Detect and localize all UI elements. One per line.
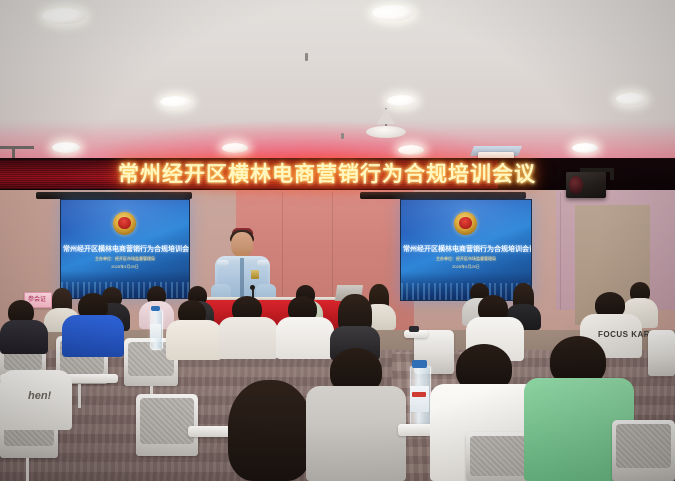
screen-case-left [36,192,192,199]
ceiling-downlight [572,143,598,153]
speaker-cone [569,176,583,194]
led-banner-text: 常州经开区横林电商营销行为合规培训会议 [118,161,498,188]
ceiling-downlight [616,93,646,105]
conference-room-photo: 常州经开区横林电商营销行为合规培训会议 常州经开区横林电商营销行为合规培训会议 … [0,0,675,481]
speaker-mount-post [610,168,614,180]
police-badge-emblem [113,212,136,235]
chair-leg [26,458,29,481]
police-badge-emblem [454,212,477,235]
ceiling-fitting [341,133,344,139]
ceiling-downlight [42,8,86,24]
attendee-hair [228,380,312,481]
projector-mount-bar-left [0,146,34,149]
screen-skyline-graphic [401,272,531,300]
screen-skyline-graphic [61,271,189,298]
projection-screen-left: 常州经开区横林电商营销行为合规培训会议 主办单位：经开区市场监督管理局 2025… [60,199,190,299]
attendee-torso [62,315,124,357]
bottle-label [410,386,429,412]
screen-date-left: 2025年9月25日 [63,264,187,270]
chair[interactable] [648,330,675,376]
seat-placard-text: 参会证 [26,294,48,303]
presenter-chest-badge [251,270,259,279]
screen-subtitle-left: 主办单位：经开区市场监督管理局 [63,256,187,262]
presenter-shoulder-board [257,260,269,266]
screen-title-left: 常州经开区横林电商营销行为合规培训会议 [63,244,187,254]
projection-screen-right: 常州经开区横林电商营销行为合规培训会议 主办单位：经开区市场监督管理局 2025… [400,199,532,301]
chair-backrest-mesh [470,436,532,476]
ceiling-fitting [305,53,308,61]
pendant-light-cone [377,108,395,124]
chair-leg [78,384,81,408]
mobile-phone [409,326,419,332]
ceiling-downlight [372,5,414,21]
attendee-torso [166,320,222,360]
ceiling-downlight [222,143,248,153]
bottle-cap [151,306,160,311]
screen-case-right [360,192,526,199]
presenter-shoulder-board [217,260,229,266]
bottle-label-accent [412,392,426,397]
screen-subtitle-right: 主办单位：经开区市场监督管理局 [403,256,529,262]
screen-title-right: 常州经开区横林电商营销行为合规培训会议 [403,244,529,254]
attendee-torso [276,317,334,359]
microphone-head [250,285,255,290]
screen-date-right: 2025年9月25日 [403,264,529,270]
bottle-cap [412,360,427,368]
chair-backrest-mesh [140,398,194,444]
attendee-torso [306,386,406,481]
wall-seam [560,192,561,310]
ceiling-downlight [387,95,417,107]
bottle-label [150,324,161,338]
pendant-light-disc [366,126,406,138]
ceiling-downlight [160,96,192,108]
attendee-torso [218,317,278,359]
chair-backrest-mesh [616,424,671,468]
attendee-torso [0,320,48,354]
ceiling-downlight [52,142,80,153]
ceiling-downlight [398,145,424,155]
shirt-print-hen: hen! [28,390,51,402]
